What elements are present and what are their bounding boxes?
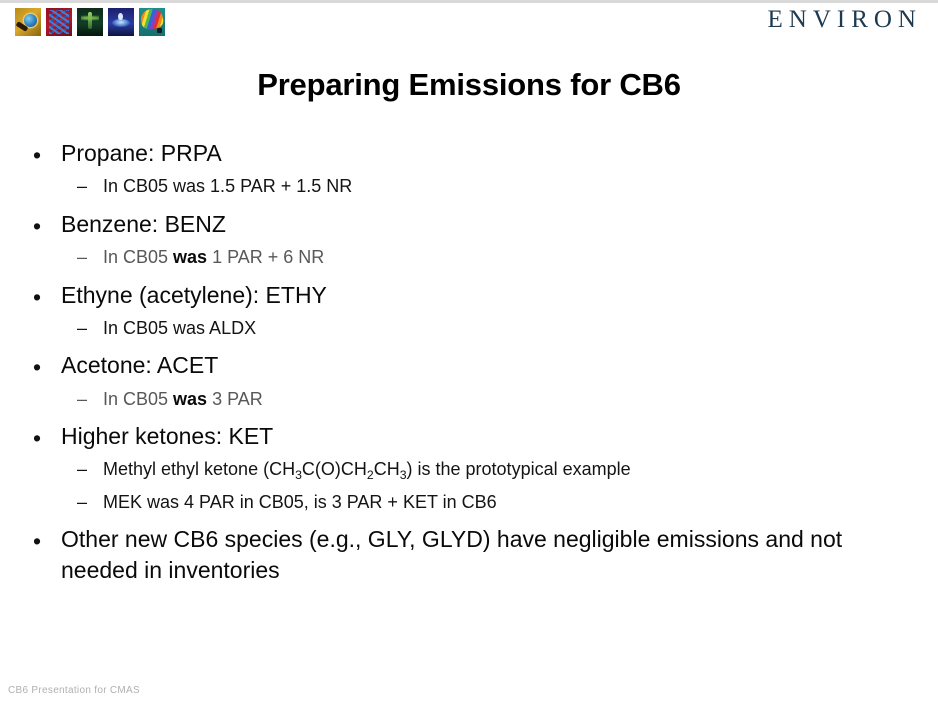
bullet-level2: –In CB05 was 1.5 PAR + 1.5 NR: [24, 175, 914, 198]
bullet-dash-icon: –: [77, 175, 87, 198]
bullet-level2-label: Methyl ethyl ketone (CH3C(O)CH2CH3) is t…: [103, 459, 631, 479]
bullet-level2: –Methyl ethyl ketone (CH3C(O)CH2CH3) is …: [24, 458, 914, 481]
bullet-dot-icon: •: [33, 526, 41, 556]
bullet-dot-icon: •: [33, 282, 41, 312]
top-divider-rule: [0, 0, 938, 3]
bullet-level2-label: In CB05 was 3 PAR: [103, 389, 263, 409]
bullet-dash-icon: –: [77, 246, 87, 269]
bullet-level1: •Other new CB6 species (e.g., GLY, GLYD)…: [24, 524, 914, 585]
environ-logo: ENVIRON: [768, 6, 923, 34]
decorative-thumbnail-strip: [15, 8, 165, 36]
bullet-dot-icon: •: [33, 211, 41, 241]
bullet-level1: •Higher ketones: KET: [24, 421, 914, 451]
bullet-dash-icon: –: [77, 388, 87, 411]
bullet-level1-label: Acetone: ACET: [61, 352, 218, 378]
bullet-dash-icon: –: [77, 458, 87, 481]
bullet-level1-label: Ethyne (acetylene): ETHY: [61, 282, 327, 308]
slide-title: Preparing Emissions for CB6: [0, 67, 938, 103]
bullet-level2-label: In CB05 was ALDX: [103, 318, 256, 338]
bullet-group: •Ethyne (acetylene): ETHY–In CB05 was AL…: [24, 280, 914, 341]
globe-magnifier-icon: [15, 8, 41, 36]
bullet-level1: •Ethyne (acetylene): ETHY: [24, 280, 914, 310]
bullet-level1: •Acetone: ACET: [24, 350, 914, 380]
bullet-dot-icon: •: [33, 352, 41, 382]
bullet-level1-label: Benzene: BENZ: [61, 211, 226, 237]
bullet-level2: –In CB05 was 1 PAR + 6 NR: [24, 246, 914, 269]
slide-body: •Propane: PRPA–In CB05 was 1.5 PAR + 1.5…: [24, 138, 914, 587]
bullet-group: •Benzene: BENZ–In CB05 was 1 PAR + 6 NR: [24, 209, 914, 270]
bullet-level2-label: In CB05 was 1.5 PAR + 1.5 NR: [103, 176, 352, 196]
footer-note: CB6 Presentation for CMAS: [8, 685, 140, 696]
bullet-level2-label: In CB05 was 1 PAR + 6 NR: [103, 247, 324, 267]
plant-seedling-icon: [77, 8, 103, 36]
bullet-level1-label: Propane: PRPA: [61, 140, 222, 166]
bullet-dot-icon: •: [33, 140, 41, 170]
bullet-dot-icon: •: [33, 423, 41, 453]
bullet-group: •Other new CB6 species (e.g., GLY, GLYD)…: [24, 524, 914, 585]
bullet-level2: –In CB05 was 3 PAR: [24, 388, 914, 411]
water-splash-icon: [108, 8, 134, 36]
bullet-level2: –MEK was 4 PAR in CB05, is 3 PAR + KET i…: [24, 491, 914, 514]
bullet-level1: •Benzene: BENZ: [24, 209, 914, 239]
bullet-level1-label: Other new CB6 species (e.g., GLY, GLYD) …: [61, 526, 842, 582]
bullet-dash-icon: –: [77, 491, 87, 514]
bullet-level1: •Propane: PRPA: [24, 138, 914, 168]
dna-helix-icon: [46, 8, 72, 36]
bullet-level1-label: Higher ketones: KET: [61, 423, 273, 449]
bullet-group: •Acetone: ACET–In CB05 was 3 PAR: [24, 350, 914, 411]
bullet-dash-icon: –: [77, 317, 87, 340]
bullet-level2-label: MEK was 4 PAR in CB05, is 3 PAR + KET in…: [103, 492, 497, 512]
bullet-group: •Higher ketones: KET–Methyl ethyl ketone…: [24, 421, 914, 514]
bullet-group: •Propane: PRPA–In CB05 was 1.5 PAR + 1.5…: [24, 138, 914, 199]
rainbow-balloon-icon: [139, 8, 165, 36]
bullet-level2: –In CB05 was ALDX: [24, 317, 914, 340]
